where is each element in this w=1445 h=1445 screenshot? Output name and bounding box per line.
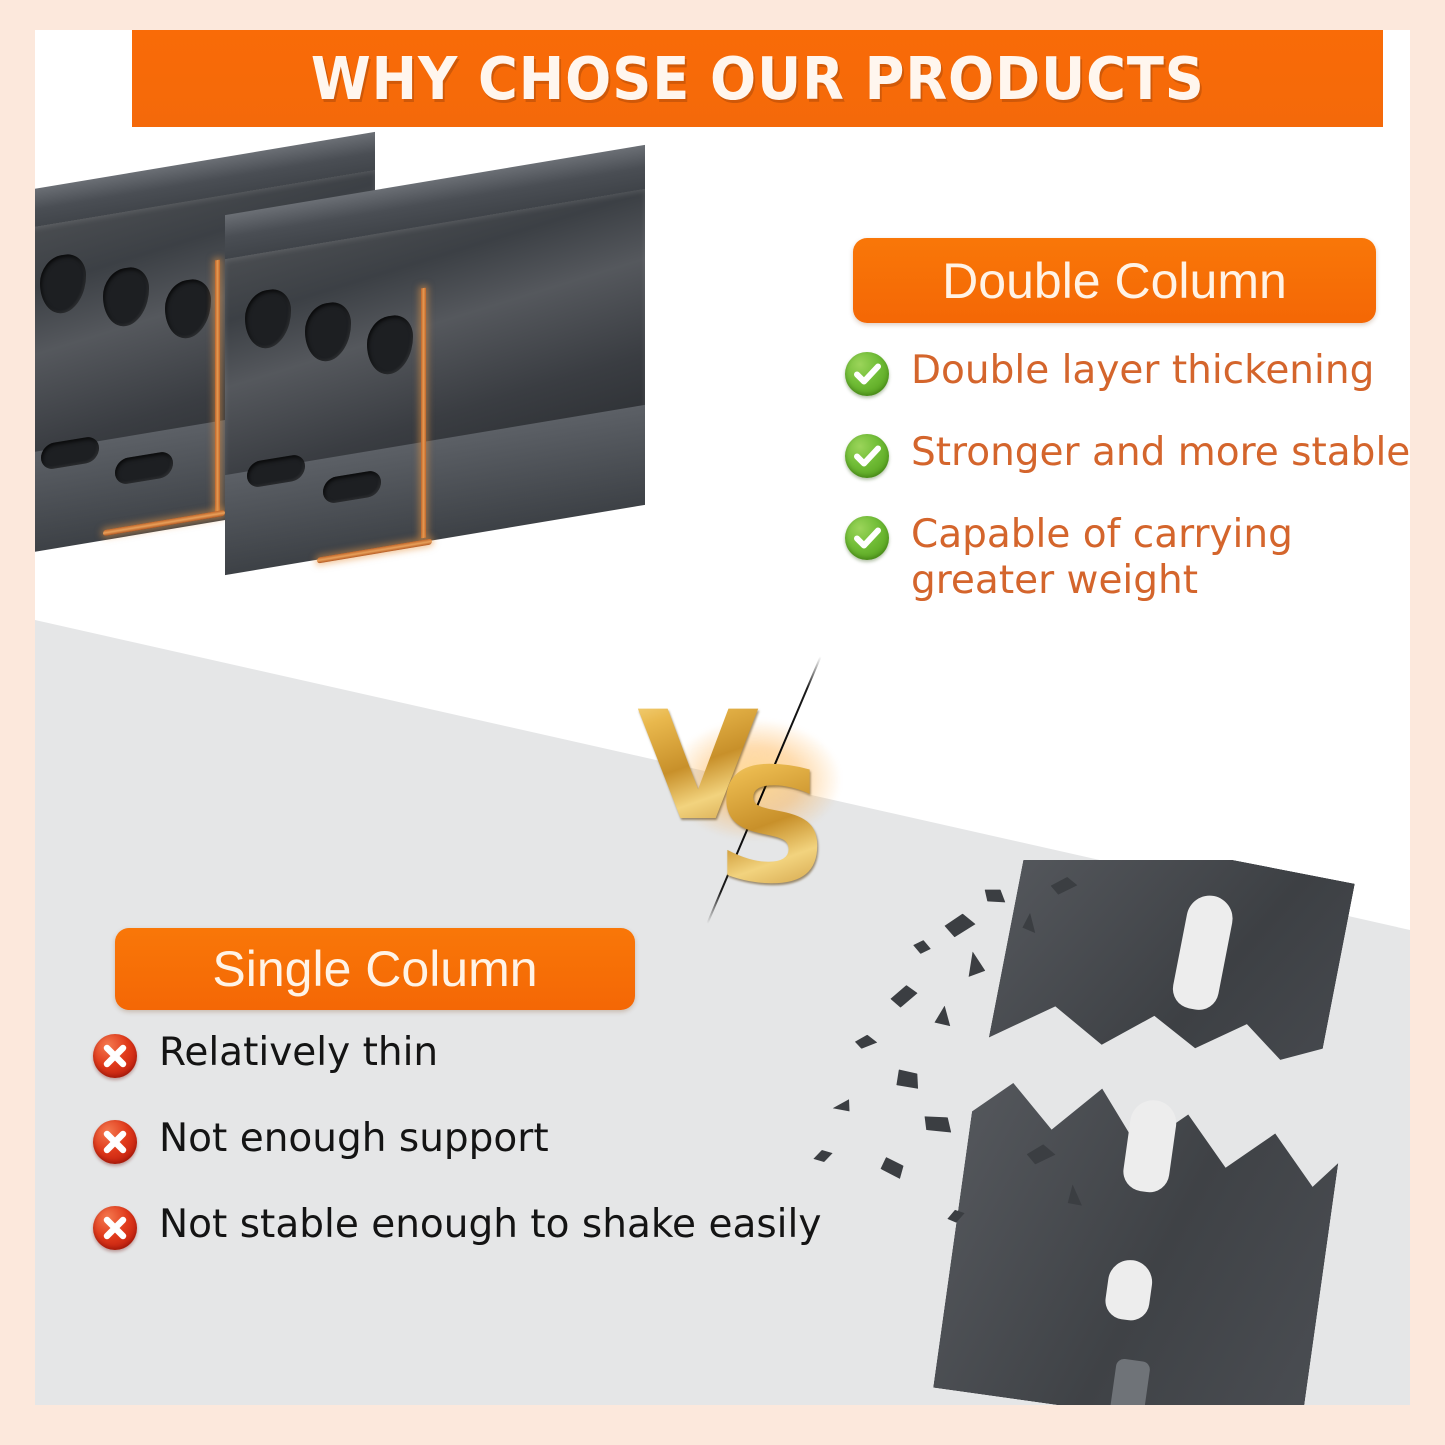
cons-list: Relatively thin Not enough support Not s… xyxy=(93,1030,893,1288)
rail-back-copper-edge xyxy=(215,260,220,513)
page-frame: V S xyxy=(0,0,1445,1445)
header-banner: WHY CHOSE OUR PRODUCTS xyxy=(132,30,1383,127)
check-circle-icon xyxy=(845,434,889,478)
double-column-rails-photo xyxy=(35,140,825,610)
rail-front-copper-edge xyxy=(421,288,426,539)
vs-letter-s: S xyxy=(715,735,829,919)
list-item: Stronger and more stable xyxy=(845,430,1410,478)
broken-upper-piece xyxy=(985,860,1355,1119)
x-circle-icon xyxy=(93,1206,137,1250)
badge-single-column-label: Single Column xyxy=(212,940,537,998)
badge-double-column-label: Double Column xyxy=(942,252,1287,310)
badge-single-column: Single Column xyxy=(115,928,635,1010)
debris-shard xyxy=(981,884,1009,908)
list-item: Not enough support xyxy=(93,1116,893,1164)
debris-shard xyxy=(889,982,920,1009)
vs-divider: V S xyxy=(630,660,860,900)
con-feature-text: Not enough support xyxy=(159,1116,549,1162)
pro-feature-text: Capable of carrying greater weight xyxy=(911,512,1341,604)
list-item: Relatively thin xyxy=(93,1030,893,1078)
check-circle-icon xyxy=(845,352,889,396)
check-circle-icon xyxy=(845,516,889,560)
debris-shard xyxy=(943,911,978,939)
debris-shard xyxy=(892,1065,924,1095)
page-title: WHY CHOSE OUR PRODUCTS xyxy=(311,44,1205,113)
debris-shard xyxy=(921,1111,955,1137)
x-circle-icon xyxy=(93,1120,137,1164)
con-feature-text: Relatively thin xyxy=(159,1030,438,1076)
pros-list: Double layer thickening Stronger and mor… xyxy=(845,348,1410,638)
badge-double-column: Double Column xyxy=(853,238,1376,323)
con-feature-text: Not stable enough to shake easily xyxy=(159,1202,821,1248)
debris-shard xyxy=(959,952,990,983)
pro-feature-text: Double layer thickening xyxy=(911,348,1374,394)
broken-keyhole xyxy=(1109,1358,1151,1405)
pro-feature-text: Stronger and more stable xyxy=(911,430,1410,476)
list-item: Double layer thickening xyxy=(845,348,1410,396)
x-circle-icon xyxy=(93,1034,137,1078)
debris-shard xyxy=(912,938,933,955)
debris-shard xyxy=(930,1006,956,1033)
content-card: V S xyxy=(35,30,1410,1405)
list-item: Capable of carrying greater weight xyxy=(845,512,1410,604)
list-item: Not stable enough to shake easily xyxy=(93,1202,893,1250)
